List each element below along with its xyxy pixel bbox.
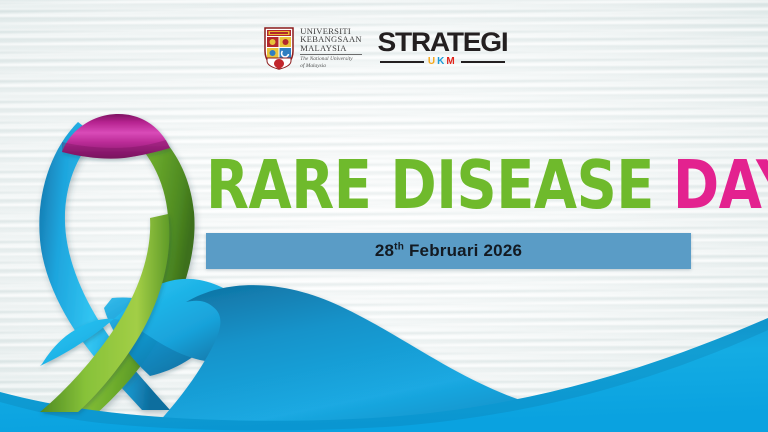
title-primary: RARE DISEASE [206,146,654,224]
awareness-ribbon-green-strand [58,120,195,414]
rare-disease-day-poster: Universiti Kebangsaan Malaysia The Natio… [0,0,768,432]
strategi-ukm-logo: STRATEGI UKM [380,29,505,67]
bottom-blue-sweep [0,318,768,432]
strategi-u: U [428,56,437,67]
date-banner: 28th Februari 2026 [206,233,691,269]
ukm-subline2: of Malaysia [300,63,362,70]
strategi-m: M [446,56,456,67]
ukm-crest-logo: Universiti Kebangsaan Malaysia The Natio… [263,26,362,70]
ukm-line3: Malaysia [300,44,362,53]
strategi-rule-right [461,61,505,63]
awareness-ribbon-cyan-strand [39,122,170,410]
page-title: RARE DISEASE DAY [206,152,768,219]
date-ordinal: th [394,241,404,252]
strategi-ukm-subline: UKM [380,57,505,67]
strategi-ukm-letters: UKM [428,57,457,67]
ukm-divider [300,54,362,55]
ukm-crest-icon [263,26,295,70]
logo-bar: Universiti Kebangsaan Malaysia The Natio… [0,26,768,70]
strategi-wordmark: STRATEGI [377,29,507,56]
strategi-k: K [437,56,446,67]
awareness-ribbon-green-cross [40,214,169,412]
awareness-ribbon-cyan-cross [46,250,158,408]
strategi-rule-left [380,61,424,63]
awareness-ribbon-magenta-loop [62,114,170,159]
date-text: 28th Februari 2026 [375,241,522,261]
wave-ribbon [0,248,768,432]
date-year: 2026 [484,241,523,260]
title-accent: DAY [673,146,768,224]
ukm-wordmark: Universiti Kebangsaan Malaysia The Natio… [300,27,362,69]
date-day: 28 [375,241,394,260]
date-month: Februari [409,241,479,260]
